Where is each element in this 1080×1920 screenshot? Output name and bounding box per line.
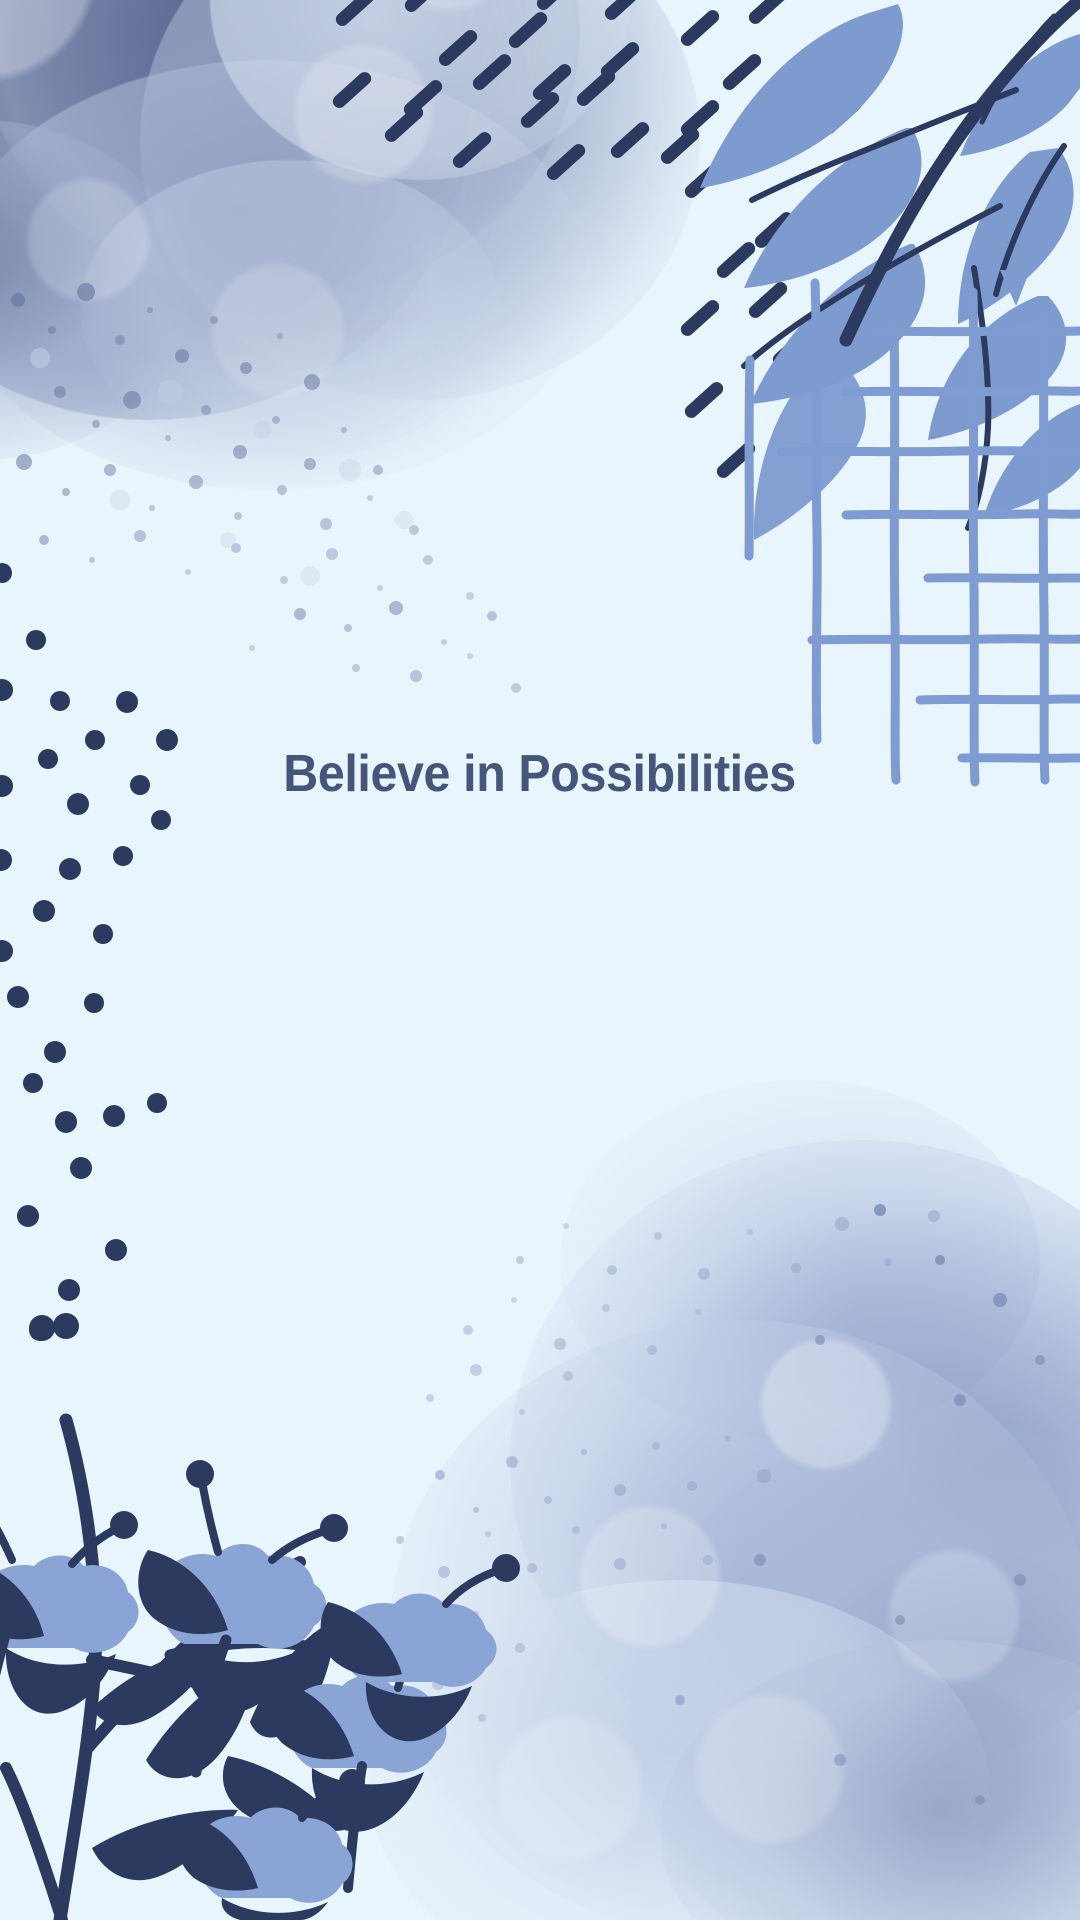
page-title: Believe in Possibilities xyxy=(284,744,797,804)
flower-1 xyxy=(0,1488,139,1714)
watercolor-grain-bottom-right xyxy=(330,1020,1080,1920)
flower-2 xyxy=(138,1460,348,1772)
page-title-container: Believe in Possibilities xyxy=(0,744,1080,804)
watercolor-grain-top-left xyxy=(0,0,690,600)
poster-canvas: Believe in Possibilities xyxy=(0,0,1080,1920)
